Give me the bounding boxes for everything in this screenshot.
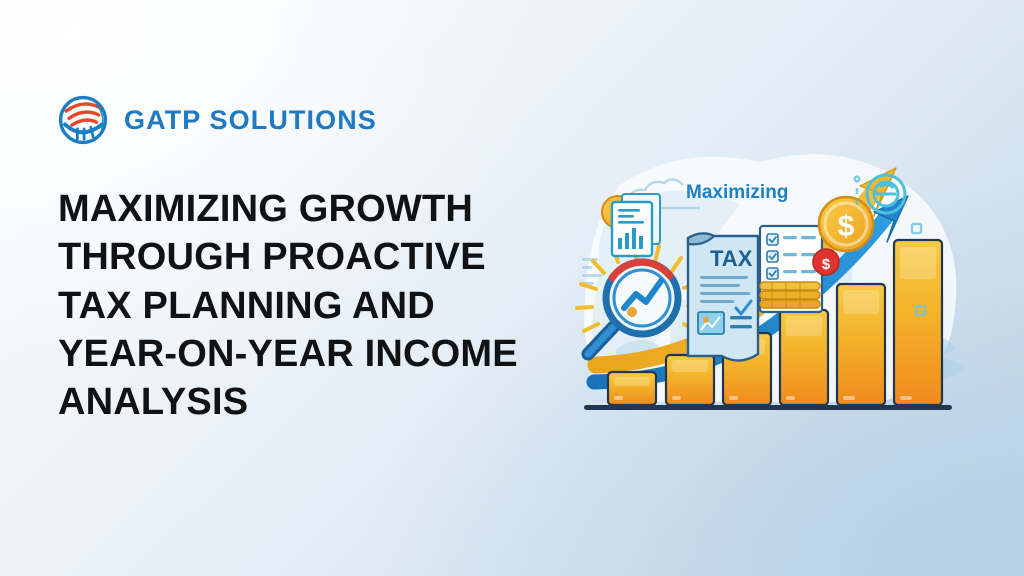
bar-4 [780,310,828,405]
bar-5 [837,284,885,405]
red-dollar-badge-icon: $ [813,249,839,275]
svg-text:$: $ [838,210,855,243]
chart-baseline [584,405,952,410]
gold-coin-large-dollar-icon: $ [819,197,873,251]
bar-6 [894,240,942,405]
coin-stack-icon [760,282,820,308]
page-title: MAXIMIZING GROWTH THROUGH PROACTIVE TAX … [58,185,558,426]
tax-document-label: TAX [710,246,753,271]
globe-swoosh-logo-icon [55,92,111,148]
svg-text:$: $ [822,256,831,273]
bar-1 [608,372,656,405]
brand-name: GATP SOLUTIONS [124,105,377,136]
tax-growth-illustration: $ TAX [560,150,980,430]
brand-logo: GATP SOLUTIONS [55,92,377,148]
tax-form-document-icon: TAX [688,233,758,360]
bar-2 [666,355,714,405]
checklist-document-icon [760,226,822,312]
illustration-caption: Maximizing [686,182,788,203]
